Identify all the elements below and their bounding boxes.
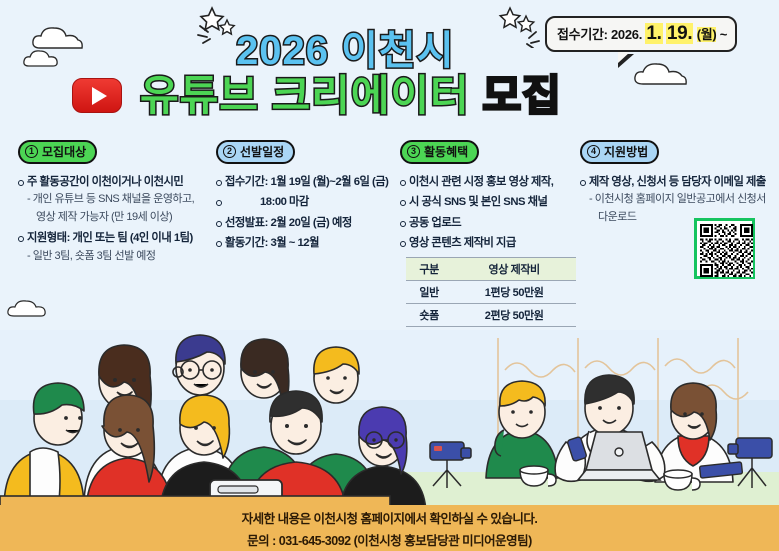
section-number: 4 xyxy=(587,145,600,158)
list-item-text: 시 공식 SNS 및 본인 SNS 채널 xyxy=(409,196,547,208)
list-item: 제작 영상, 신청서 등 담당자 이메일 제출 xyxy=(580,174,772,190)
section-title: 모집대상 xyxy=(42,143,86,160)
info-columns: 1 모집대상 주 활동공간이 이천이거나 이천시민 - 개인 유튜브 등 SNS… xyxy=(0,140,779,330)
section-badge-1: 1 모집대상 xyxy=(18,140,97,164)
section-number: 2 xyxy=(223,145,236,158)
list-item-text: 18:00 마감 xyxy=(260,196,309,208)
page-title-line2: 유튜브 크리에이터 모집 xyxy=(140,62,562,123)
list-item: 공동 업로드 xyxy=(400,215,580,231)
date-suffix: ~ xyxy=(720,27,727,42)
illustration-creators xyxy=(0,330,779,512)
footer-contact: 자세한 내용은 이천시청 홈페이지에서 확인하실 수 있습니다. 문의 : 03… xyxy=(0,505,779,551)
section-title: 선발일정 xyxy=(240,143,284,160)
section-how-to-apply: 4 지원방법 제작 영상, 신청서 등 담당자 이메일 제출 - 이천시청 홈페… xyxy=(580,140,772,226)
section-badge-3: 3 활동혜택 xyxy=(400,140,479,164)
application-period-badge: 접수기간: 2026. 1. 19. (월) ~ xyxy=(545,16,737,52)
table-cell: 숏폼 xyxy=(406,303,452,326)
list-item: 이천시 관련 시정 홍보 영상 제작, xyxy=(400,174,580,190)
list-item: 선정발표: 2월 20일 (금) 예정 xyxy=(216,215,392,231)
section-recruit-target: 1 모집대상 주 활동공간이 이천이거나 이천시민 - 개인 유튜브 등 SNS… xyxy=(18,140,214,265)
fee-table: 구분 영상 제작비 일반 1편당 50만원 숏폼 2편당 50만원 xyxy=(406,257,576,327)
table-row: 일반 1편당 50만원 xyxy=(406,280,576,303)
list-item: 영상 제작 가능자 (만 19세 이상) xyxy=(18,210,214,226)
list-item: - 개인 유튜브 등 SNS 채널을 운영하고, xyxy=(18,192,214,208)
list-item: 18:00 마감 xyxy=(216,194,392,210)
date-month: 1. xyxy=(645,23,662,44)
list-item: - 일반 3팀, 숏폼 3팀 선발 예정 xyxy=(18,249,214,265)
section-number: 1 xyxy=(25,145,38,158)
list-item: 영상 콘텐츠 제작비 지급 xyxy=(400,235,580,251)
youtube-play-icon xyxy=(72,78,122,113)
page-title-line2-black: 모집 xyxy=(482,72,561,119)
badge-tail-inner xyxy=(618,52,630,63)
column-header: 구분 xyxy=(406,257,452,280)
footer-line-2: 문의 : 031-645-3092 (이천시청 홍보담당관 미디어운영팀) xyxy=(247,530,532,549)
section-title: 지원방법 xyxy=(604,143,648,160)
section-title: 활동혜택 xyxy=(424,143,468,160)
table-cell: 일반 xyxy=(406,280,452,303)
list-item: 접수기간: 1월 19일 (월)~2월 6일 (금) xyxy=(216,174,392,190)
page-title-line2-green: 유튜브 크리에이터 xyxy=(140,72,470,119)
poster-root: 2026 이천시 유튜브 크리에이터 모집 접수기간: 2026. 1. 19.… xyxy=(0,0,779,551)
list-item: - 이천시청 홈페이지 일반공고에서 신청서 xyxy=(580,192,772,208)
list-item-text: 공동 업로드 xyxy=(409,217,461,229)
column-header: 영상 제작비 xyxy=(452,257,576,280)
footer-line-1: 자세한 내용은 이천시청 홈페이지에서 확인하실 수 있습니다. xyxy=(242,508,538,527)
table-cell: 2편당 50만원 xyxy=(452,303,576,326)
date-weekday: (월) xyxy=(697,27,717,42)
table-cell: 1편당 50만원 xyxy=(452,280,576,303)
table-row: 숏폼 2편당 50만원 xyxy=(406,303,576,326)
section-badge-4: 4 지원방법 xyxy=(580,140,659,164)
list-item: 지원형태: 개인 또는 팀 (4인 이내 1팀) xyxy=(18,230,214,246)
list-item: 시 공식 SNS 및 본인 SNS 채널 xyxy=(400,194,580,210)
section-badge-2: 2 선발일정 xyxy=(216,140,295,164)
table-header-row: 구분 영상 제작비 xyxy=(406,257,576,280)
list-item: 주 활동공간이 이천이거나 이천시민 xyxy=(18,174,214,190)
section-number: 3 xyxy=(407,145,420,158)
section-benefits: 3 활동혜택 이천시 관련 시정 홍보 영상 제작, 시 공식 SNS 및 본인… xyxy=(400,140,580,349)
list-item: 활동기간: 3월 ~ 12월 xyxy=(216,235,392,251)
section-schedule: 2 선발일정 접수기간: 1월 19일 (월)~2월 6일 (금) 18:00 … xyxy=(216,140,392,252)
date-prefix: 접수기간: 2026. xyxy=(557,27,642,42)
date-day: 19. xyxy=(666,23,694,44)
qr-code[interactable] xyxy=(694,218,755,279)
